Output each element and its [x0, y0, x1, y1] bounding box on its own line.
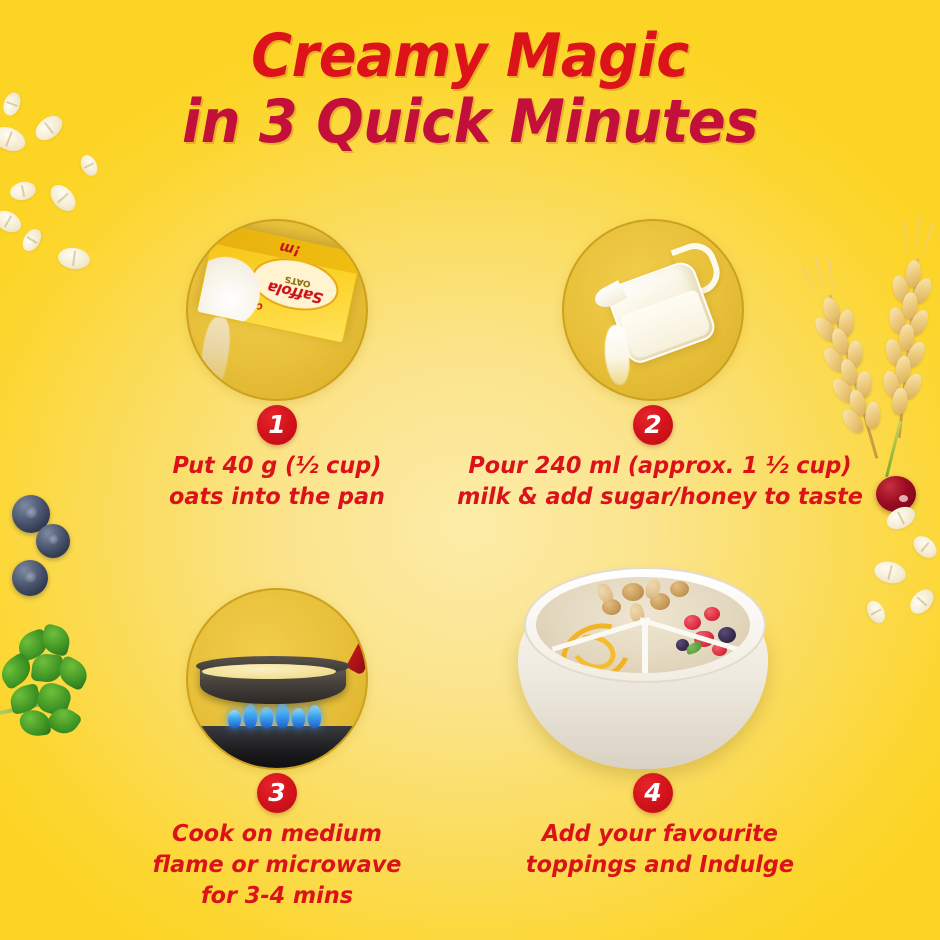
bowl-divider-vertical — [642, 621, 648, 673]
step-1-caption: Put 40 g (½ cup) oats into the pan — [87, 450, 467, 512]
step-3-number-badge: 3 — [257, 773, 297, 813]
walnut-piece — [622, 583, 644, 601]
stove-top — [188, 726, 368, 770]
step-1-image-oats-pack: Creamy Oats Saffola OATS !m — [186, 219, 368, 401]
cherry — [868, 448, 924, 508]
step-3-caption: Cook on medium flame or microwave for 3-… — [87, 818, 467, 911]
step-2-image-milk-jug — [562, 219, 744, 401]
step-4-number-badge: 4 — [633, 773, 673, 813]
step-1-caption-line-2: oats into the pan — [87, 481, 467, 512]
pan-rim — [196, 656, 350, 676]
raspberry — [684, 615, 701, 630]
step-4-caption: Add your favourite toppings and Indulge — [470, 818, 850, 880]
milk-inside-jug — [619, 289, 712, 360]
step-3-image-pan-on-flame — [186, 588, 368, 770]
parsley-leaf — [0, 622, 110, 740]
milk-jug — [583, 240, 728, 379]
poster-title: Creamy Magic in 3 Quick Minutes — [0, 28, 940, 151]
gas-stove — [188, 590, 368, 770]
frying-pan — [200, 652, 358, 704]
step-3-caption-line-2: flame or microwave — [87, 849, 467, 880]
recipe-poster: Creamy Magic in 3 Quick Minutes Creamy O… — [0, 0, 940, 940]
cooking-oats — [202, 664, 336, 679]
title-line-1: Creamy Magic — [33, 28, 907, 86]
step-4-caption-line-1: Add your favourite — [470, 818, 850, 849]
step-3-caption-line-1: Cook on medium — [87, 818, 467, 849]
step-3-caption-line-3: for 3-4 mins — [87, 880, 467, 911]
pouring-oats-stream — [197, 316, 234, 397]
step-2-number-badge: 2 — [633, 405, 673, 445]
step-2-caption-line-2: milk & add sugar/honey to taste — [446, 481, 874, 512]
title-line-2: in 3 Quick Minutes — [33, 94, 907, 152]
raspberry — [704, 607, 720, 621]
pack-claim-text: Creamy Oats — [204, 301, 262, 316]
step-1-caption-line-1: Put 40 g (½ cup) — [87, 450, 467, 481]
step-2-caption-line-1: Pour 240 ml (approx. 1 ½ cup) — [446, 450, 874, 481]
step-2-caption: Pour 240 ml (approx. 1 ½ cup) milk & add… — [446, 450, 874, 512]
walnut-piece — [670, 581, 689, 597]
bowl-inner-porridge — [536, 577, 750, 673]
pan-handle — [346, 625, 368, 676]
step-1-number-badge: 1 — [257, 405, 297, 445]
gas-flame — [228, 702, 332, 728]
step-4-caption-line-2: toppings and Indulge — [470, 849, 850, 880]
step-4-image-oats-bowl — [518, 565, 768, 777]
